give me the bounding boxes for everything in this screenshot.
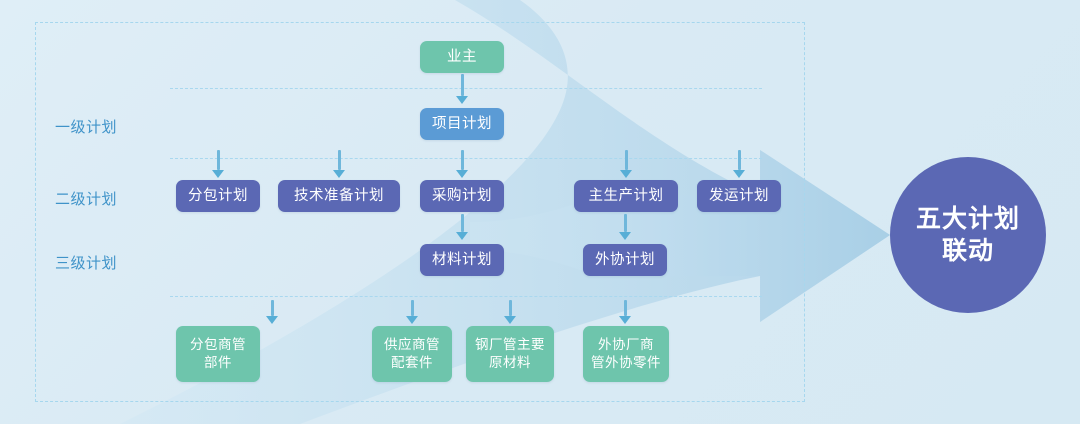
node-subcontractor-parts[interactable]: 分包商管 部件 <box>176 326 260 382</box>
node-outsource-vendor-parts[interactable]: 外协厂商 管外协零件 <box>583 326 669 382</box>
result-circle-five-plans[interactable]: 五大计划 联动 <box>890 157 1046 313</box>
row-label-level-1: 一级计划 <box>55 116 117 137</box>
node-outsource-plan[interactable]: 外协计划 <box>583 244 667 276</box>
node-tech-prep-plan[interactable]: 技术准备计划 <box>278 180 400 212</box>
node-shipping-plan[interactable]: 发运计划 <box>697 180 781 212</box>
node-owner[interactable]: 业主 <box>420 41 504 73</box>
row-label-level-2: 二级计划 <box>55 188 117 209</box>
node-material-plan[interactable]: 材料计划 <box>420 244 504 276</box>
row-separator-2 <box>170 158 762 159</box>
node-subcontract-plan[interactable]: 分包计划 <box>176 180 260 212</box>
node-purchase-plan[interactable]: 采购计划 <box>420 180 504 212</box>
node-supplier-accessories[interactable]: 供应商管 配套件 <box>372 326 452 382</box>
row-separator-3 <box>170 296 762 297</box>
node-main-production-plan[interactable]: 主生产计划 <box>574 180 678 212</box>
diagram-canvas: 一级计划 二级计划 三级计划 业主 项目计划 分包计划 技术准备计划 采购计划 … <box>0 0 1080 424</box>
node-project-plan[interactable]: 项目计划 <box>420 108 504 140</box>
row-separator-1 <box>170 88 762 89</box>
row-label-level-3: 三级计划 <box>55 252 117 273</box>
node-steelmill-raw-material[interactable]: 钢厂管主要 原材料 <box>466 326 554 382</box>
result-circle-label: 五大计划 联动 <box>916 203 1020 268</box>
